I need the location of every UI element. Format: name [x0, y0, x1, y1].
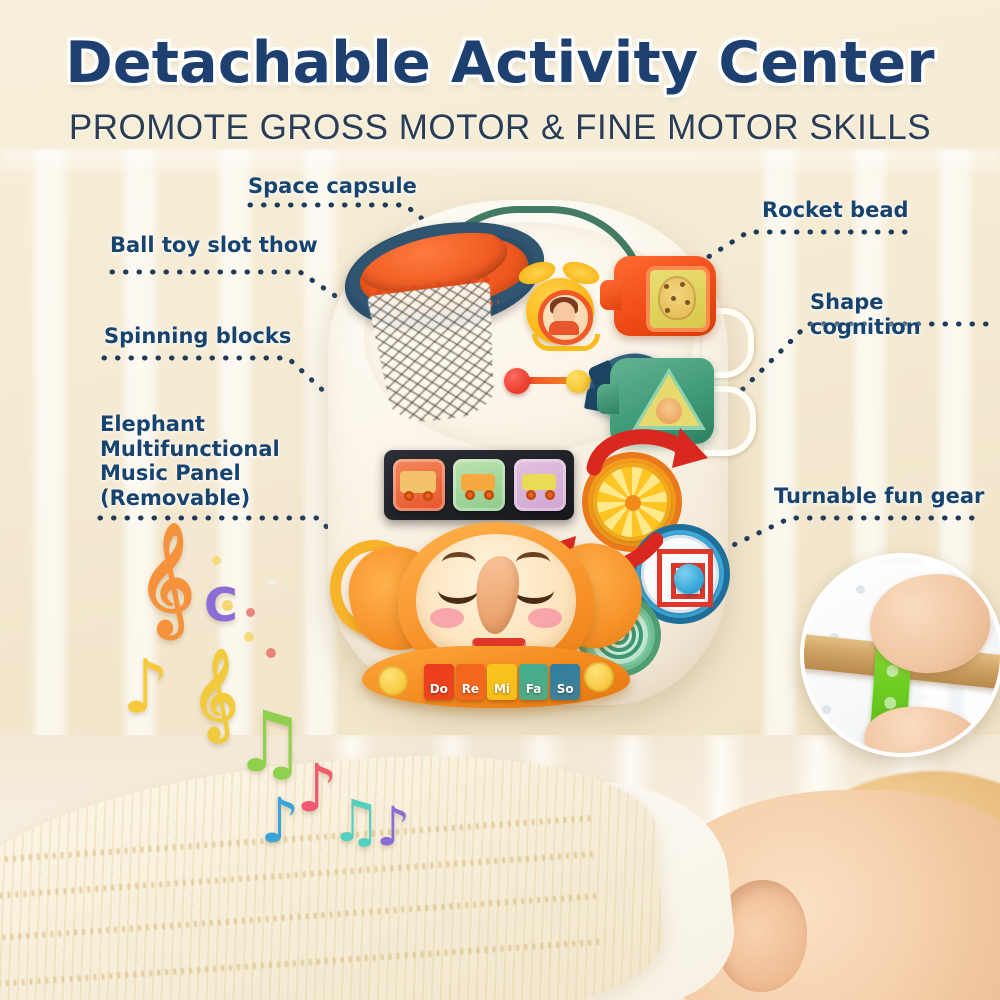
strap-attachment-inset	[800, 553, 1000, 757]
arrow-rotate-right	[586, 422, 716, 492]
tiger-icon	[656, 398, 682, 424]
piano-key-so[interactable]: So	[550, 664, 580, 700]
elephant-music-panel[interactable]: Do Re Mi Fa So	[350, 518, 640, 708]
baby-photo	[0, 735, 1000, 1000]
smiley-button-right[interactable]	[584, 662, 614, 692]
note-beamed-teal: ♫	[330, 792, 382, 850]
key-label: So	[557, 682, 574, 696]
page-subtitle: PROMOTE GROSS MOTOR & FINE MOTOR SKILLS	[0, 108, 1000, 148]
infographic-stage: Detachable Activity Center PROMOTE GROSS…	[0, 0, 1000, 1000]
note-eighth-blue: ♪	[260, 790, 300, 852]
elephant-trunk	[472, 554, 522, 636]
helicopter-spinner[interactable]	[514, 258, 606, 348]
callout-ball-toy-slot: Ball toy slot thow	[110, 233, 318, 258]
note-treble-clef-orange: 𝄞	[138, 530, 195, 626]
piano-key-mi[interactable]: Mi	[487, 664, 517, 700]
piano-keybar[interactable]: Do Re Mi Fa So	[362, 646, 630, 708]
note-eighth-purple: ♪	[376, 800, 410, 854]
page-title: Detachable Activity Center	[0, 30, 1000, 96]
key-label: Re	[462, 682, 479, 696]
callout-music-panel: Elephant Multifunctional Music Panel (Re…	[100, 412, 280, 510]
bead-yellow[interactable]	[566, 370, 590, 393]
piano-key-fa[interactable]: Fa	[519, 664, 549, 700]
callout-spinning-blocks: Spinning blocks	[104, 324, 291, 349]
bead-red[interactable]	[504, 368, 530, 394]
smiley-button-left[interactable]	[378, 666, 408, 696]
activity-board[interactable]: Do Re Mi Fa So	[328, 200, 728, 705]
leopard-window-block[interactable]	[614, 256, 716, 336]
note-eighth-yellow: ♪	[122, 650, 169, 724]
spinning-blocks-panel[interactable]	[384, 450, 574, 520]
callout-space-capsule: Space capsule	[248, 174, 417, 199]
key-label: Fa	[526, 682, 542, 696]
spin-block-3[interactable]	[514, 459, 566, 511]
callout-shape-cognition: Shape cognition	[810, 290, 1000, 339]
piano-key-re[interactable]: Re	[456, 664, 486, 700]
piano-key-do[interactable]: Do	[424, 664, 454, 700]
piano-keys[interactable]: Do Re Mi Fa So	[424, 658, 580, 700]
spin-block-2[interactable]	[453, 459, 505, 511]
callout-turnable-gear: Turnable fun gear	[774, 484, 984, 509]
key-label: Mi	[494, 682, 510, 696]
spin-block-1[interactable]	[393, 459, 445, 511]
key-label: Do	[430, 682, 448, 696]
callout-rocket-bead: Rocket bead	[762, 198, 909, 223]
crib-rail	[0, 150, 1000, 176]
